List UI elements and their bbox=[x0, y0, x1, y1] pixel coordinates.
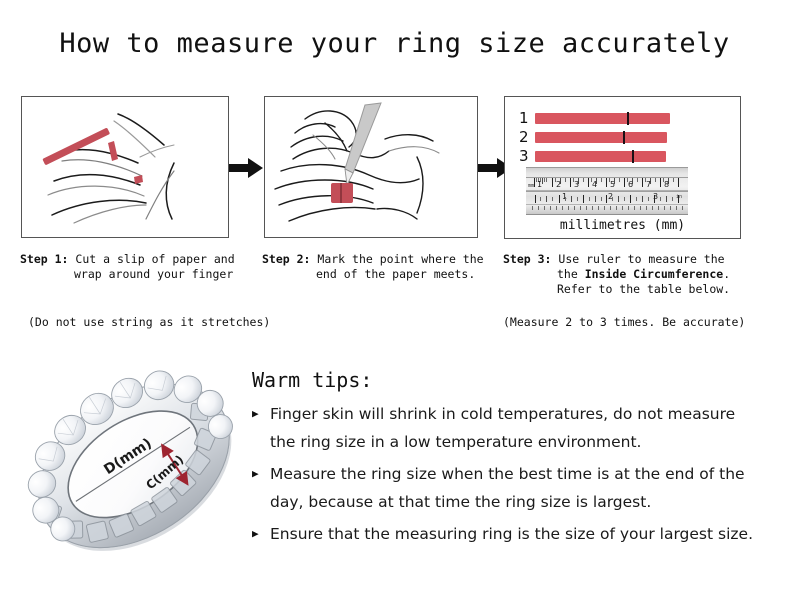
warm-tips-heading: Warm tips: bbox=[252, 368, 372, 392]
strip-number: 2 bbox=[519, 128, 535, 146]
warm-tip-item: ▶ Finger skin will shrink in cold temper… bbox=[252, 400, 762, 456]
page-title: How to measure your ring size accurately bbox=[0, 28, 789, 59]
step-1-label: Step 1: bbox=[20, 252, 68, 266]
strip-mark bbox=[632, 150, 634, 163]
ruler-cm-tick: 8 bbox=[664, 180, 669, 189]
warm-tip-text: Measure the ring size when the best time… bbox=[270, 460, 762, 516]
warm-tips-list: ▶ Finger skin will shrink in cold temper… bbox=[252, 400, 762, 552]
ruler-cm-tick: 6 bbox=[628, 180, 633, 189]
step-1-note: (Do not use string as it stretches) bbox=[28, 315, 270, 329]
step-3-illustration-panel: 1 2 3 bbox=[504, 96, 741, 239]
step-1-line1: Cut a slip of paper and bbox=[75, 252, 234, 266]
step-3-line1: Use ruler to measure the bbox=[558, 252, 724, 266]
triangle-bullet-icon: ▶ bbox=[252, 520, 270, 548]
strip-number: 3 bbox=[519, 147, 535, 165]
eternity-ring-photo: D(mm) C(mm) bbox=[18, 352, 250, 580]
ruler-cm-tick: 7 bbox=[646, 180, 651, 189]
step-3-line2-prefix: the bbox=[557, 267, 585, 281]
triangle-bullet-icon: ▶ bbox=[252, 460, 270, 516]
step-3-line2-suffix: . bbox=[723, 267, 730, 281]
ruler-image: mm 1 2 3 4 5 6 7 8 1 2 3 in bbox=[526, 167, 688, 215]
step-2-illustration-panel bbox=[264, 96, 478, 238]
step-1-caption: Step 1: Cut a slip of paper and wrap aro… bbox=[20, 252, 255, 282]
step-3-note: (Measure 2 to 3 times. Be accurate) bbox=[503, 315, 745, 329]
step-2-line1: Mark the point where the bbox=[317, 252, 483, 266]
step-2-label: Step 2: bbox=[262, 252, 310, 266]
paper-strip-row: 3 bbox=[519, 147, 666, 165]
paper-strip bbox=[535, 132, 667, 143]
warm-tip-item: ▶ Measure the ring size when the best ti… bbox=[252, 460, 762, 516]
warm-tip-item: ▶ Ensure that the measuring ring is the … bbox=[252, 520, 762, 548]
paper-strip-row: 1 bbox=[519, 109, 670, 127]
inside-circumference-emphasis: Inside Circumference bbox=[585, 267, 723, 281]
step-2-caption: Step 2: Mark the point where the end of … bbox=[262, 252, 502, 282]
step-1-line2: wrap around your finger bbox=[20, 267, 255, 282]
warm-tip-text: Ensure that the measuring ring is the si… bbox=[270, 520, 753, 548]
ruler-cm-tick: 2 bbox=[556, 180, 561, 189]
ruler-inch-unit: in bbox=[676, 194, 682, 200]
hand-with-paper-slip-icon bbox=[22, 97, 228, 237]
strip-mark bbox=[623, 131, 625, 144]
strip-number: 1 bbox=[519, 109, 535, 127]
paper-strip bbox=[535, 113, 670, 124]
step-3-line2: the Inside Circumference. bbox=[503, 267, 753, 282]
step-3-label: Step 3: bbox=[503, 252, 551, 266]
arrow-step1-to-step2 bbox=[229, 158, 263, 178]
ruler-mm-unit: mm bbox=[528, 183, 534, 189]
ruler-unit-caption: millimetres (mm) bbox=[505, 218, 740, 233]
strip-mark bbox=[627, 112, 629, 125]
step-2-line2: end of the paper meets. bbox=[262, 267, 502, 282]
ruler-cm-tick: 4 bbox=[592, 180, 597, 189]
ring-size-guide-infographic: How to measure your ring size accurately bbox=[0, 0, 789, 606]
triangle-bullet-icon: ▶ bbox=[252, 400, 270, 456]
step-1-illustration-panel bbox=[21, 96, 229, 238]
paper-strip-row: 2 bbox=[519, 128, 667, 146]
step-3-caption: Step 3: Use ruler to measure the the Ins… bbox=[503, 252, 753, 297]
paper-strip bbox=[535, 151, 666, 162]
ruler-cm-tick: 1 bbox=[537, 180, 542, 189]
ruler-cm-tick: 3 bbox=[574, 180, 579, 189]
warm-tip-text: Finger skin will shrink in cold temperat… bbox=[270, 400, 762, 456]
step-3-line3: Refer to the table below. bbox=[503, 282, 753, 297]
ruler-cm-tick: 5 bbox=[610, 180, 615, 189]
hand-marking-paper-with-pen-icon bbox=[265, 97, 477, 237]
